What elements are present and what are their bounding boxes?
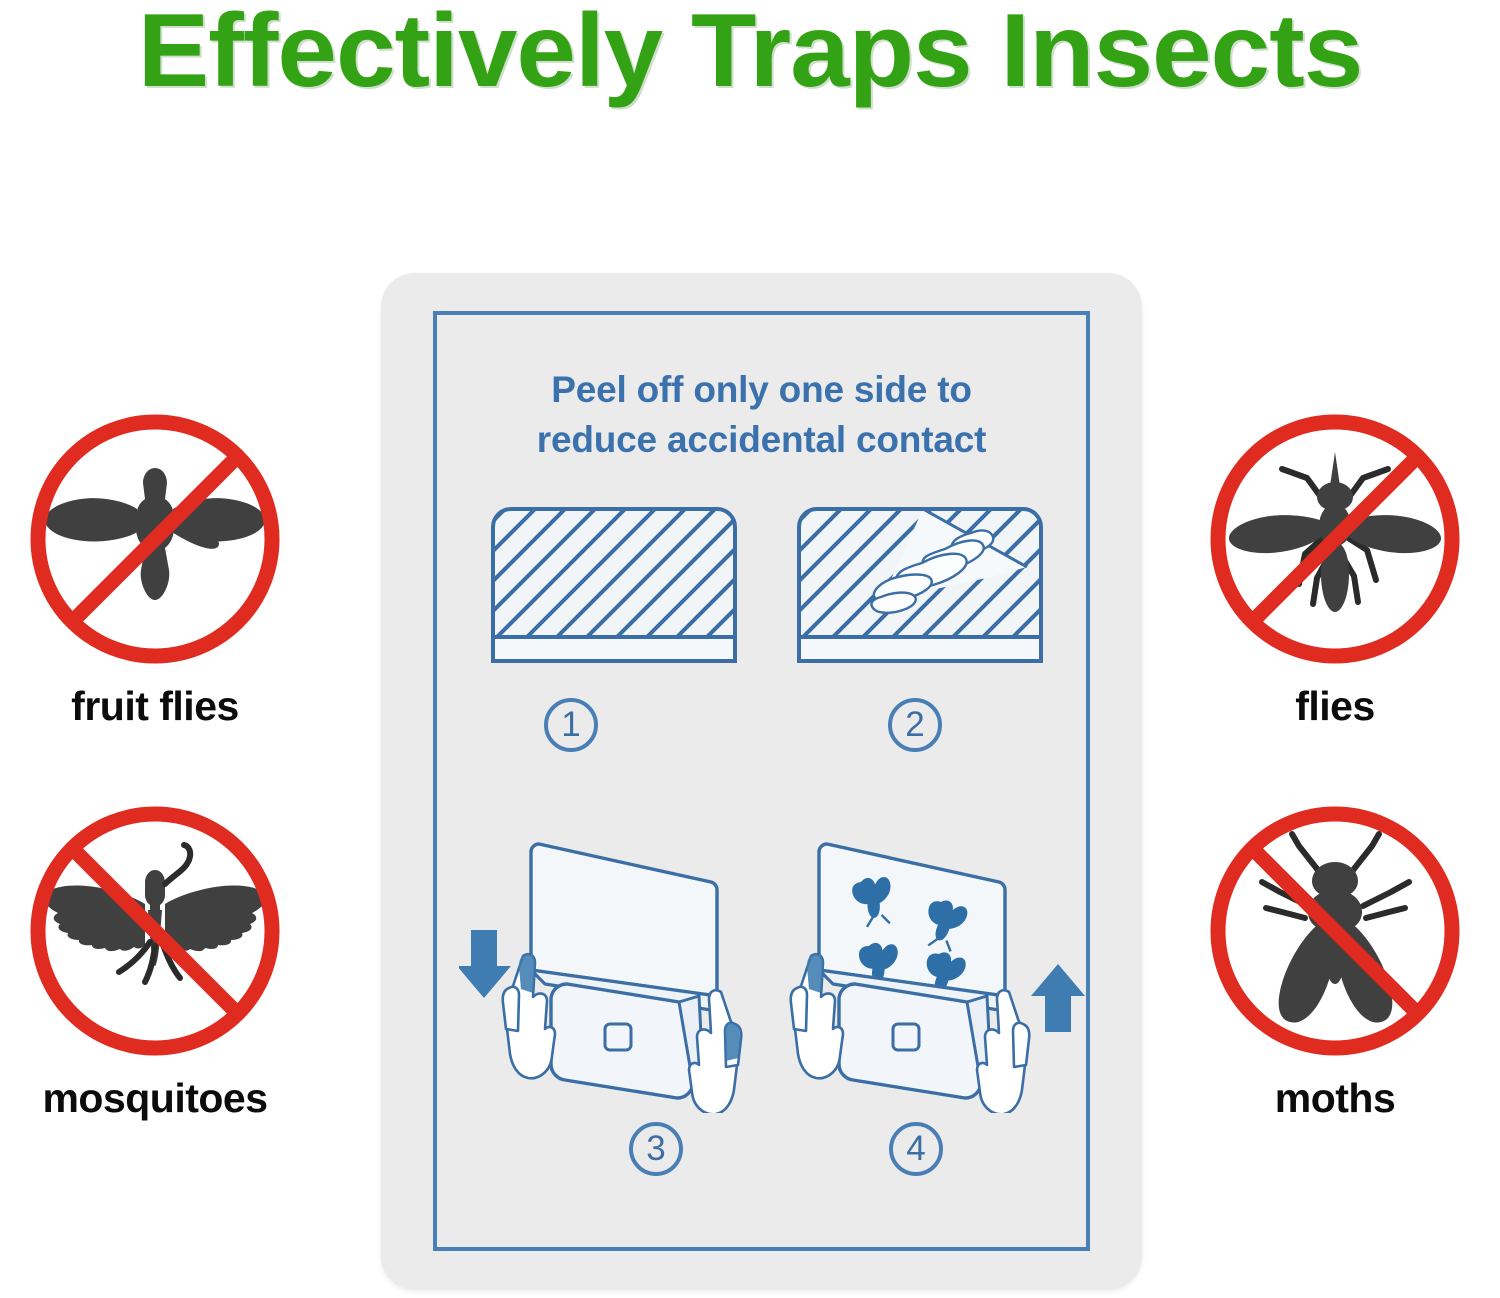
no-fly-icon (1204, 408, 1466, 670)
pest-badge-fruit-flies: fruit flies (15, 408, 295, 730)
remove-card-up-with-flies-icon (789, 838, 1089, 1113)
hand-peeling-liner-icon (795, 505, 1045, 665)
step-number-3: 3 (629, 1122, 683, 1176)
step-3-figure (459, 838, 759, 1118)
no-fruit-fly-icon (24, 408, 286, 670)
step-1-figure (489, 505, 739, 670)
insert-card-down-icon (459, 838, 759, 1113)
card-heading: Peel off only one side to reduce acciden… (441, 365, 1082, 465)
instruction-card: Peel off only one side to reduce acciden… (381, 273, 1142, 1290)
page-title: Effectively Traps Insects (0, 0, 1500, 106)
arrow-up-icon (1031, 964, 1085, 1032)
step-number-1: 1 (544, 698, 598, 752)
step-number-4: 4 (889, 1122, 943, 1176)
step-2-figure (795, 505, 1045, 670)
pest-badge-mosquitoes: mosquitoes (15, 800, 295, 1122)
pest-badge-label: fruit flies (15, 682, 295, 730)
step-number-2: 2 (888, 698, 942, 752)
pest-badge-label: mosquitoes (15, 1074, 295, 1122)
pest-badge-label: moths (1195, 1074, 1475, 1122)
no-mosquito-icon (24, 800, 286, 1062)
card-heading-line-1: Peel off only one side to (441, 365, 1082, 415)
pest-badge-moths: moths (1195, 800, 1475, 1122)
hatched-sticky-card-icon (489, 505, 739, 665)
no-moth-icon (1204, 800, 1466, 1062)
step-4-figure (789, 838, 1089, 1118)
product-infographic: Effectively Traps Insects (0, 0, 1500, 1298)
pest-badge-flies: flies (1195, 408, 1475, 730)
pest-badge-label: flies (1195, 682, 1475, 730)
arrow-down-icon (459, 930, 511, 998)
card-heading-line-2: reduce accidental contact (441, 415, 1082, 465)
